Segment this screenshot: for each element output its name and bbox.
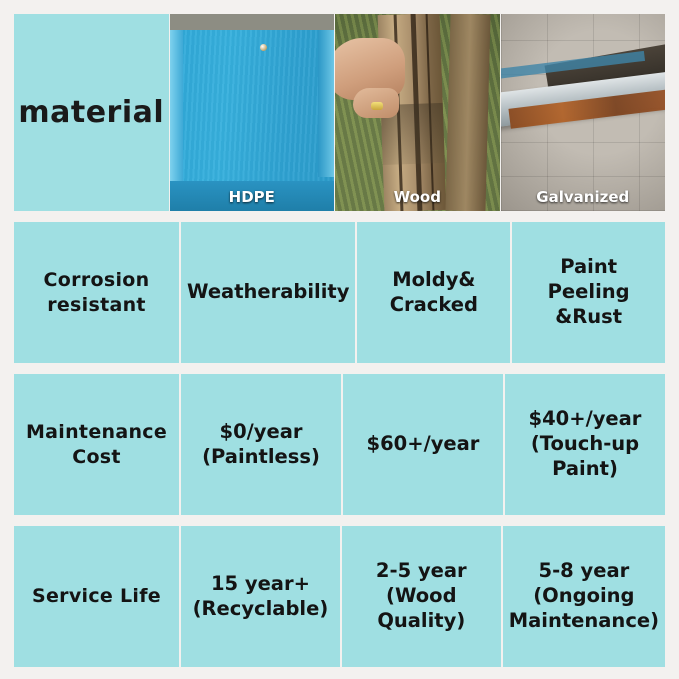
row-label-maintenance-cost: Maintenance Cost: [14, 374, 179, 515]
row-label-corrosion-resistant: Corrosion resistant: [14, 222, 179, 363]
row-label-service-life: Service Life: [14, 526, 179, 667]
hdpe-board-photo: HDPE: [170, 14, 335, 211]
cell-line: (Recyclable): [193, 597, 329, 622]
cell-line: 15 year+: [193, 572, 329, 597]
row-label-line: Cost: [72, 446, 121, 468]
cell-line: Moldy&: [390, 268, 478, 293]
cell-hdpe-corrosion: Weatherability: [179, 222, 355, 363]
header-row: material HDPE Wood: [14, 14, 665, 211]
cell-line: $40+/year: [511, 407, 659, 432]
wood-caption: Wood: [335, 188, 500, 206]
table-row-service-life: Service Life 15 year+ (Recyclable) 2-5 y…: [14, 526, 665, 667]
screw-head-icon: [260, 44, 267, 51]
cell-line: (Wood Quality): [348, 584, 495, 634]
row-label-line: Service Life: [32, 585, 161, 607]
secondary-wood-post: [445, 14, 490, 211]
cell-hdpe-maintenance: $0/year (Paintless): [179, 374, 341, 515]
material-title-cell: material: [14, 14, 169, 211]
row-label-line: Maintenance: [26, 421, 167, 443]
cell-wood-service-life: 2-5 year (Wood Quality): [340, 526, 501, 667]
cell-line: Weatherability: [187, 280, 349, 305]
cell-wood-maintenance: $60+/year: [341, 374, 503, 515]
cell-line: 5-8 year: [509, 559, 659, 584]
cell-line: Maintenance): [509, 609, 659, 634]
cell-line: 2-5 year: [348, 559, 495, 584]
cell-line: $60+/year: [367, 432, 480, 457]
cell-galvanized-service-life: 5-8 year (Ongoing Maintenance): [501, 526, 665, 667]
cell-wood-corrosion: Moldy& Cracked: [355, 222, 510, 363]
cell-line: Paint Peeling: [518, 255, 659, 305]
cell-galvanized-maintenance: $40+/year (Touch-up Paint): [503, 374, 665, 515]
row-label-line: resistant: [47, 294, 146, 316]
galvanized-caption: Galvanized: [501, 188, 666, 206]
page-title: material: [18, 95, 164, 130]
wood-post-photo: Wood: [335, 14, 500, 211]
cell-line: Cracked: [390, 293, 478, 318]
hdpe-right-edge: [318, 30, 334, 177]
galvanized-rail-photo: Galvanized: [501, 14, 666, 211]
hdpe-caption: HDPE: [170, 188, 335, 206]
table-row-maintenance-cost: Maintenance Cost $0/year (Paintless) $60…: [14, 374, 665, 515]
cell-line: (Touch-up Paint): [511, 432, 659, 482]
cell-line: &Rust: [518, 305, 659, 330]
ring-icon: [371, 102, 383, 110]
cell-line: (Ongoing: [509, 584, 659, 609]
cell-galvanized-corrosion: Paint Peeling &Rust: [510, 222, 665, 363]
cell-line: $0/year: [202, 420, 320, 445]
cell-line: (Paintless): [202, 445, 320, 470]
row-label-line: Corrosion: [44, 269, 150, 291]
table-row-corrosion-resistant: Corrosion resistant Weatherability Moldy…: [14, 222, 665, 363]
comparison-infographic: material HDPE Wood: [0, 0, 679, 679]
cell-hdpe-service-life: 15 year+ (Recyclable): [179, 526, 340, 667]
